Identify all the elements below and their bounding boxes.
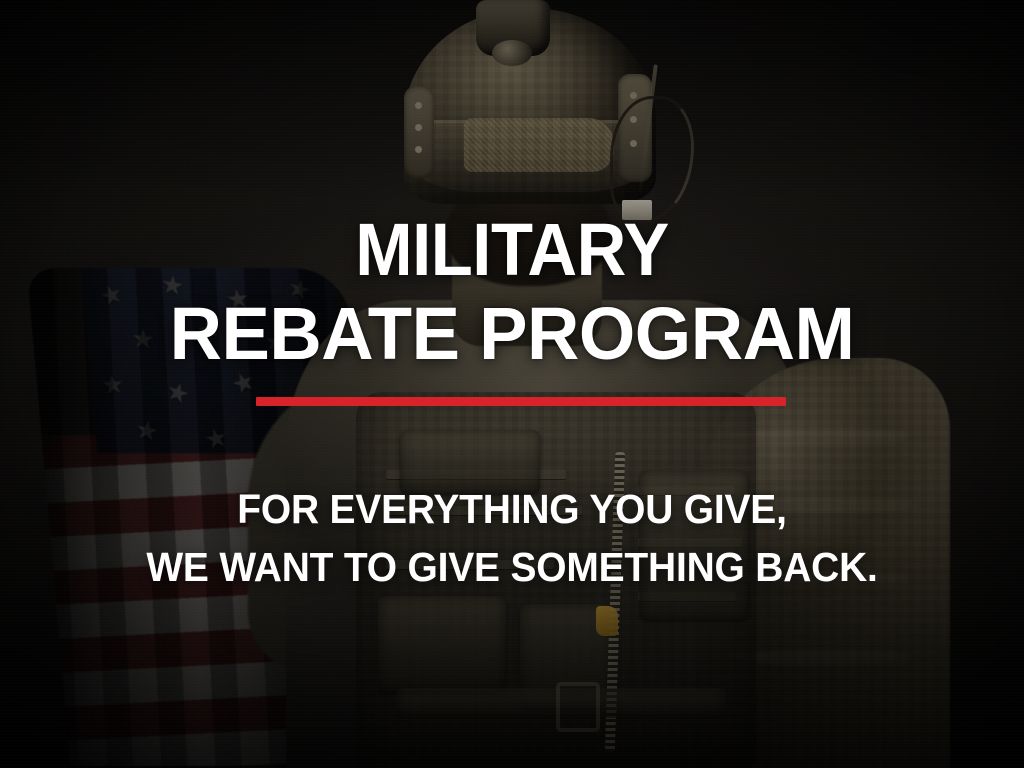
subtitle-line-2: WE WANT TO GIVE SOMETHING BACK. — [26, 547, 999, 588]
poster-text-overlay: MILITARY REBATE PROGRAM FOR EVERYTHING Y… — [0, 0, 1024, 768]
poster-canvas: ★ ★ ★ ★ ★ ★ ★ ★ ★ ★ ★ ★ ★ ★ — [0, 0, 1024, 768]
headline-line-1: MILITARY — [36, 214, 988, 285]
subtitle-line-1: FOR EVERYTHING YOU GIVE, — [26, 489, 999, 530]
red-accent-rule — [256, 397, 786, 406]
headline-line-2: REBATE PROGRAM — [10, 298, 1014, 369]
